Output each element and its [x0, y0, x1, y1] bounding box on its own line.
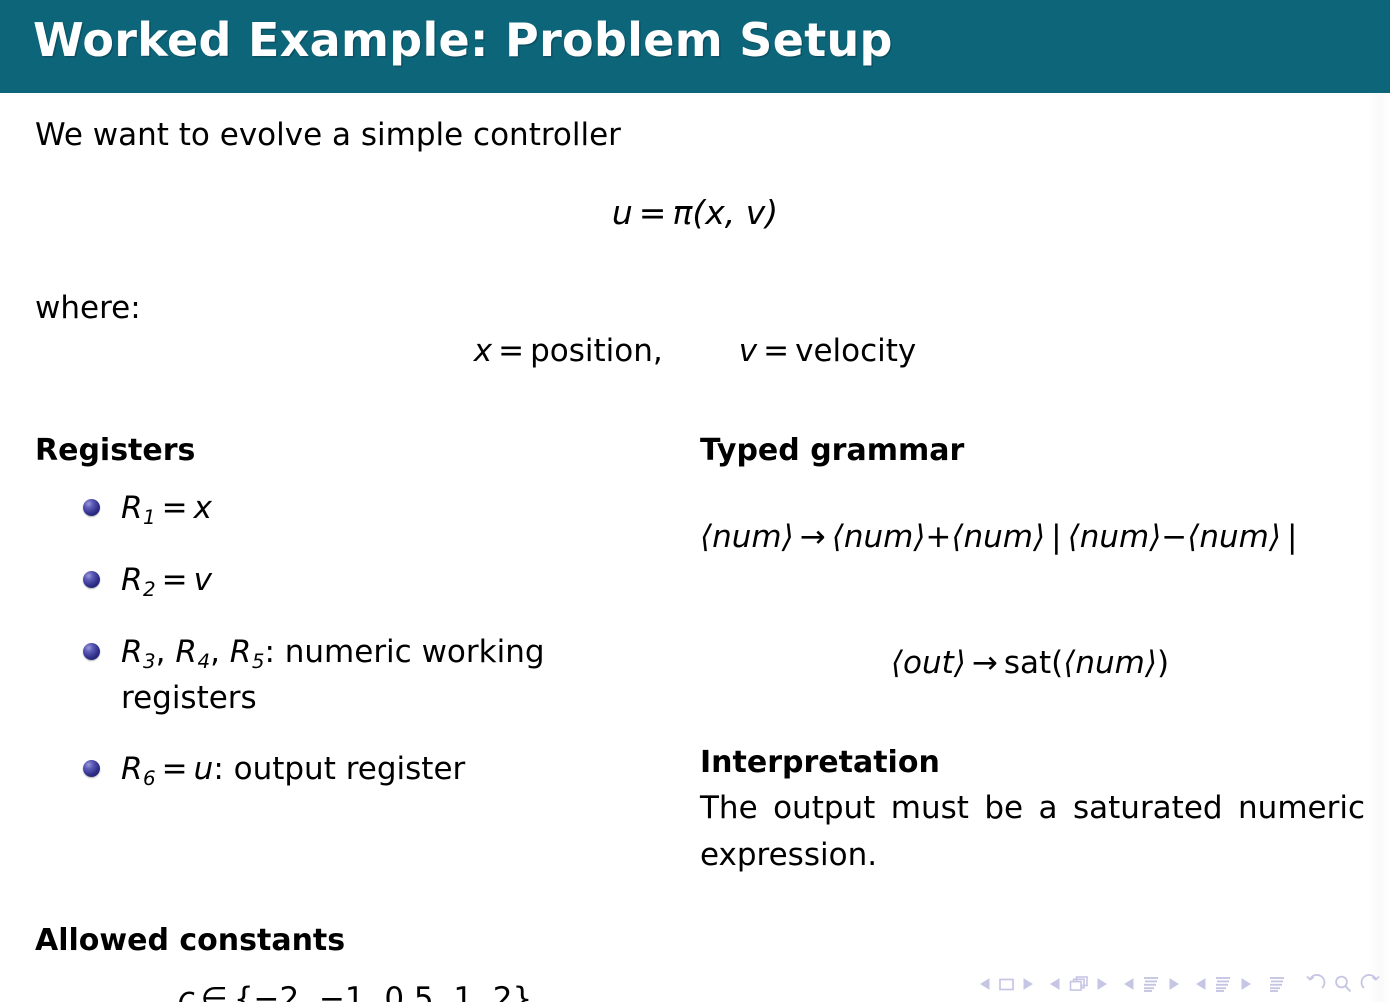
list-item: R6=u: output register: [83, 747, 675, 793]
v-equals: =: [757, 333, 795, 369]
register-item-1: R1=x: [121, 490, 212, 526]
variable-definitions: x=position,v=velocity: [0, 333, 1390, 369]
subsection-lines-icon[interactable]: [1142, 975, 1161, 993]
interpretation-heading: Interpretation: [700, 745, 940, 780]
equation-lhs: u: [612, 193, 633, 232]
constant-set: {−2, −1, 0.5, 1, 2}: [234, 981, 532, 1002]
frame-nav-group: [1050, 975, 1107, 993]
section-nav-group: [1196, 975, 1251, 993]
slide-content: We want to evolve a simple controller u=…: [0, 93, 1390, 1002]
constant-variable: c: [178, 981, 195, 1002]
next-slide-arrow-icon[interactable]: [1022, 977, 1033, 991]
bullet-ball-icon: [83, 571, 100, 588]
equation-arguments: (x, v): [692, 193, 778, 232]
history-nav-group: [1304, 974, 1382, 994]
prev-frame-arrow-icon[interactable]: [1050, 977, 1061, 991]
prev-subsection-arrow-icon[interactable]: [1124, 977, 1135, 991]
registers-heading: Registers: [35, 433, 675, 468]
list-item: R3, R4, R5: numeric working registers: [83, 630, 675, 721]
x-value: position,: [530, 333, 663, 369]
registers-list: R1=x R2=v R3, R4, R5: numeric working re…: [35, 486, 675, 793]
bullet-ball-icon: [83, 643, 100, 660]
forward-arrow-icon[interactable]: [1360, 974, 1382, 994]
slide-nav-group: [980, 976, 1033, 993]
register-item-3: R3, R4, R5: numeric working registers: [121, 634, 545, 716]
back-arrow-icon[interactable]: [1304, 974, 1326, 994]
allowed-constants-equation: c∈{−2, −1, 0.5, 1, 2}: [35, 981, 675, 1002]
grammar-num-rule: ⟨num⟩→⟨num⟩+⟨num⟩|⟨num⟩−⟨num⟩|: [700, 519, 1390, 555]
frames-stack-icon[interactable]: [1068, 975, 1089, 993]
document-lines-icon[interactable]: [1268, 975, 1287, 993]
v-symbol: v: [739, 333, 757, 369]
x-equals: =: [492, 333, 530, 369]
beamer-navigation-bar[interactable]: [980, 974, 1382, 994]
next-subsection-arrow-icon[interactable]: [1168, 977, 1179, 991]
list-item: R1=x: [83, 486, 675, 532]
where-label: where:: [35, 290, 141, 326]
list-item: R2=v: [83, 558, 675, 604]
search-icon[interactable]: [1333, 974, 1353, 994]
equation-pi-symbol: π: [672, 193, 692, 232]
document-nav-group: [1268, 975, 1287, 993]
v-value: velocity: [795, 333, 916, 369]
left-column: Registers R1=x R2=v R3, R4, R5: numeric …: [35, 433, 675, 793]
next-section-arrow-icon[interactable]: [1240, 977, 1251, 991]
next-frame-arrow-icon[interactable]: [1096, 977, 1107, 991]
element-of-symbol: ∈: [195, 981, 234, 1002]
equation-equals: =: [633, 193, 673, 232]
register-item-2: R2=v: [121, 562, 212, 598]
interpretation-body: The output must be a saturated numeric e…: [700, 785, 1365, 878]
controller-equation: u=π(x, v): [0, 193, 1390, 232]
page-title: Worked Example: Problem Setup: [33, 13, 893, 67]
allowed-constants-heading: Allowed constants: [35, 923, 345, 958]
section-lines-icon[interactable]: [1214, 975, 1233, 993]
slide-header-bar: Worked Example: Problem Setup: [0, 0, 1390, 93]
subsection-nav-group: [1124, 975, 1179, 993]
bullet-ball-icon: [83, 499, 100, 516]
right-column: Typed grammar ⟨num⟩→⟨num⟩+⟨num⟩|⟨num⟩−⟨n…: [700, 433, 1390, 474]
typed-grammar-heading: Typed grammar: [700, 433, 1390, 468]
prev-section-arrow-icon[interactable]: [1196, 977, 1207, 991]
intro-sentence: We want to evolve a simple controller: [35, 117, 621, 153]
x-symbol: x: [474, 333, 492, 369]
bullet-ball-icon: [83, 760, 100, 777]
register-item-6: R6=u: output register: [121, 751, 465, 787]
prev-slide-arrow-icon[interactable]: [980, 977, 991, 991]
slide-square-icon[interactable]: [998, 976, 1015, 993]
grammar-out-rule: ⟨out⟩→sat(⟨num⟩): [700, 645, 1360, 681]
